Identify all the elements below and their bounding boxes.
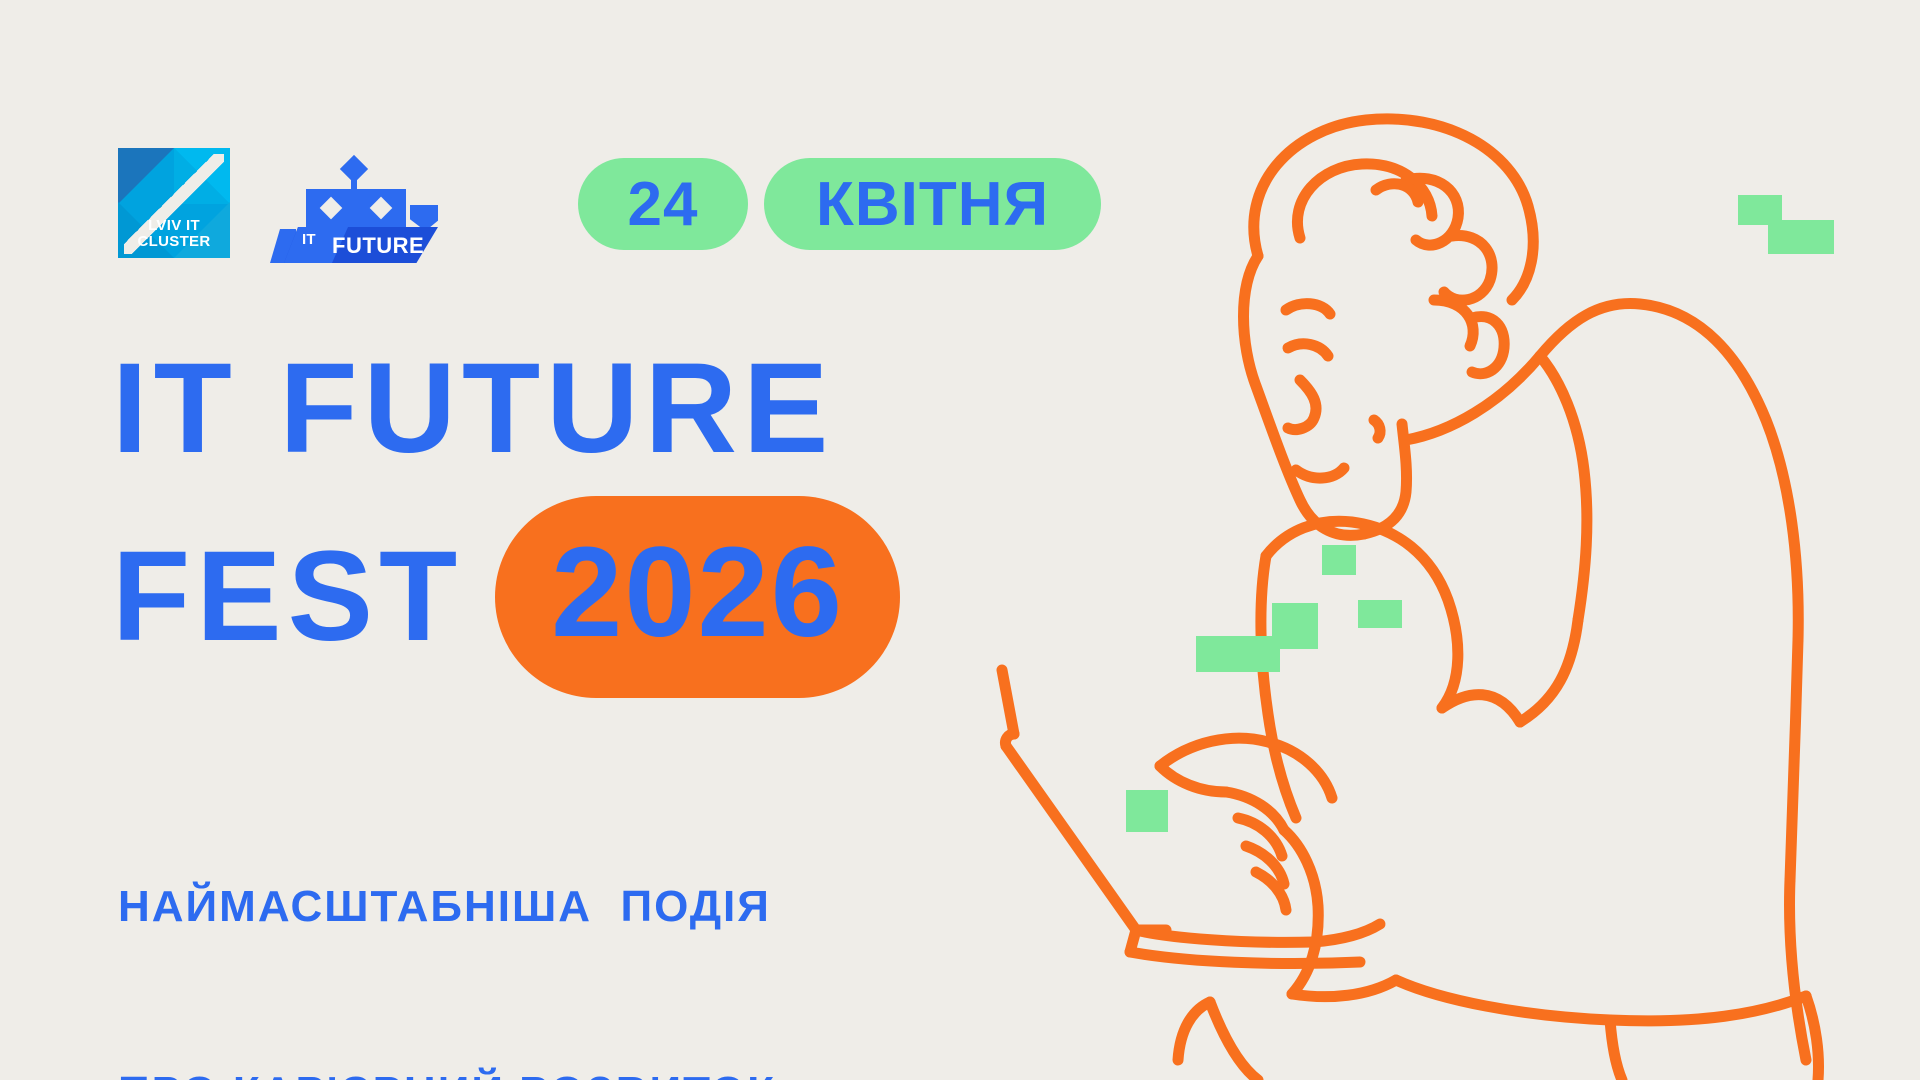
cluster-logo-text: LVIV IT CLUSTER — [118, 218, 230, 250]
subtitle-line-2: ПРО КАР'ЄРНИЙ РОЗВИТОК — [118, 1062, 776, 1080]
date-day-badge: 24 — [578, 158, 748, 250]
it-future-robot-logo[interactable]: IT FUTURE — [270, 149, 438, 257]
robot-antenna-stem-icon — [351, 165, 357, 191]
headline-line-2: FEST 2026 — [112, 496, 900, 698]
robot-logo-it-label: IT — [302, 231, 316, 248]
decor-square — [1126, 790, 1168, 832]
promo-banner: LVIV IT CLUSTER IT FUTURE 24 КВІТНЯ IT F… — [0, 0, 1920, 1080]
cluster-logo-line2: CLUSTER — [118, 234, 230, 250]
date-month-badge: КВІТНЯ — [764, 158, 1101, 250]
cluster-logo-line1: LVIV IT — [118, 218, 230, 234]
logo-row: LVIV IT CLUSTER IT FUTURE — [118, 148, 438, 258]
robot-logo-future-label: FUTURE — [332, 233, 424, 259]
event-date: 24 КВІТНЯ — [578, 158, 1101, 250]
lviv-it-cluster-logo[interactable]: LVIV IT CLUSTER — [118, 148, 230, 258]
decor-square — [1322, 545, 1356, 575]
subtitle: НАЙМАСШТАБНІША ПОДІЯ ПРО КАР'ЄРНИЙ РОЗВИ… — [118, 752, 776, 1080]
page-title: IT FUTURE FEST 2026 — [112, 322, 900, 698]
year-badge: 2026 — [495, 496, 900, 698]
headline-fest-word: FEST — [112, 510, 463, 684]
decor-square — [1196, 636, 1280, 672]
headline-line-1: IT FUTURE — [112, 322, 900, 496]
decor-square — [1768, 220, 1834, 254]
decor-square — [1358, 600, 1402, 628]
subtitle-line-1: НАЙМАСШТАБНІША ПОДІЯ — [118, 876, 776, 938]
